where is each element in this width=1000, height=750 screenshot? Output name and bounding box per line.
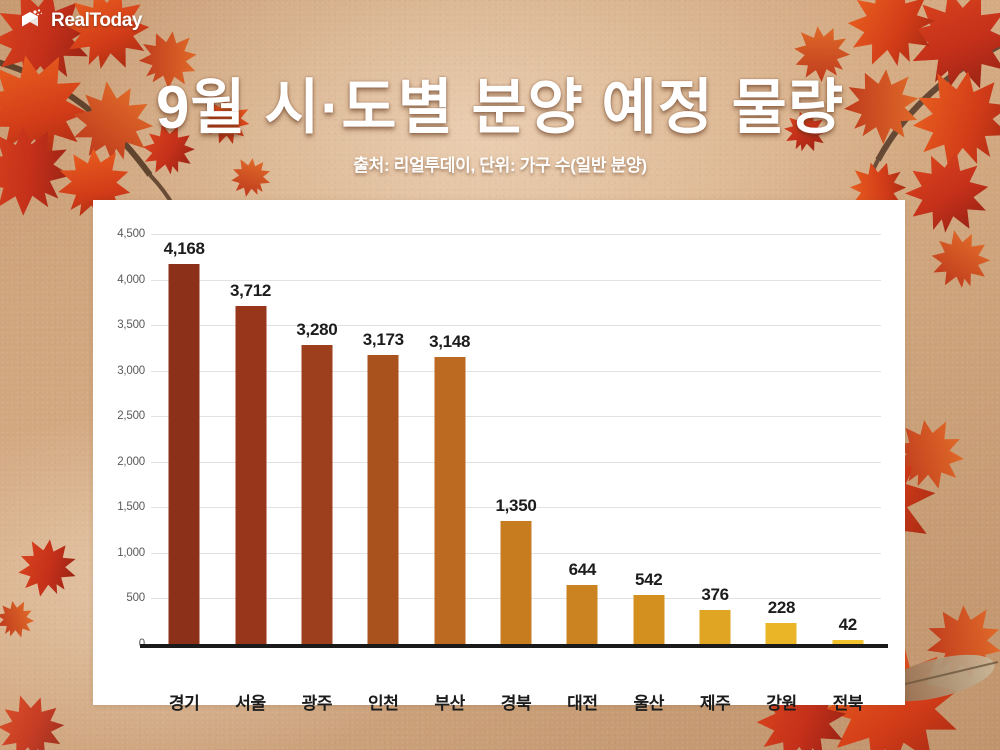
category-label: 제주 (700, 689, 730, 714)
category-slot: 강원 (748, 234, 814, 644)
category-slot: 울산 (616, 234, 682, 644)
category-label: 인천 (368, 689, 398, 714)
y-tick-label: 3,500 (117, 319, 145, 331)
category-label: 경기 (169, 689, 199, 714)
infographic-poster: RealToday 9월 시·도별 분양 예정 물량 출처: 리얼투데이, 단위… (0, 0, 1000, 750)
category-label: 부산 (434, 689, 464, 714)
category-label: 강원 (766, 689, 796, 714)
category-slot: 경기 (151, 234, 217, 644)
category-slot: 제주 (682, 234, 748, 644)
category-label: 서울 (235, 689, 265, 714)
page-subtitle: 출처: 리얼투데이, 단위: 가구 수(일반 분양) (0, 151, 1000, 176)
y-tick-label: 2,500 (117, 410, 145, 422)
y-tick-label: 1,500 (117, 501, 145, 513)
category-slot: 부산 (417, 234, 483, 644)
brand-logo-text: RealToday (51, 10, 142, 32)
cube-logo-icon (18, 8, 44, 34)
category-slot: 대전 (549, 234, 615, 644)
category-label: 대전 (567, 689, 597, 714)
category-slot: 인천 (350, 234, 416, 644)
y-tick-label: 2,000 (117, 456, 145, 468)
category-label: 경북 (501, 689, 531, 714)
category-slot: 광주 (284, 234, 350, 644)
category-label: 광주 (302, 689, 332, 714)
y-tick-label: 4,000 (117, 274, 145, 286)
x-axis-category-labels: 경기서울광주인천부산경북대전울산제주강원전북 (151, 234, 881, 644)
category-slot: 경북 (483, 234, 549, 644)
y-tick-label: 3,000 (117, 365, 145, 377)
brand-logo[interactable]: RealToday (18, 8, 142, 34)
title-block: 9월 시·도별 분양 예정 물량 출처: 리얼투데이, 단위: 가구 수(일반 … (0, 78, 1000, 176)
category-slot: 전북 (815, 234, 881, 644)
y-tick-label: 4,500 (117, 228, 145, 240)
y-tick-label: 500 (126, 592, 145, 604)
y-tick-label: 1,000 (117, 547, 145, 559)
category-label: 전북 (833, 689, 863, 714)
page-title: 9월 시·도별 분양 예정 물량 (0, 78, 1000, 138)
chart-panel: 05001,0001,5002,0002,5003,0003,5004,0004… (93, 200, 905, 705)
x-axis-baseline (140, 644, 888, 648)
category-label: 울산 (633, 689, 663, 714)
category-slot: 서울 (218, 234, 284, 644)
